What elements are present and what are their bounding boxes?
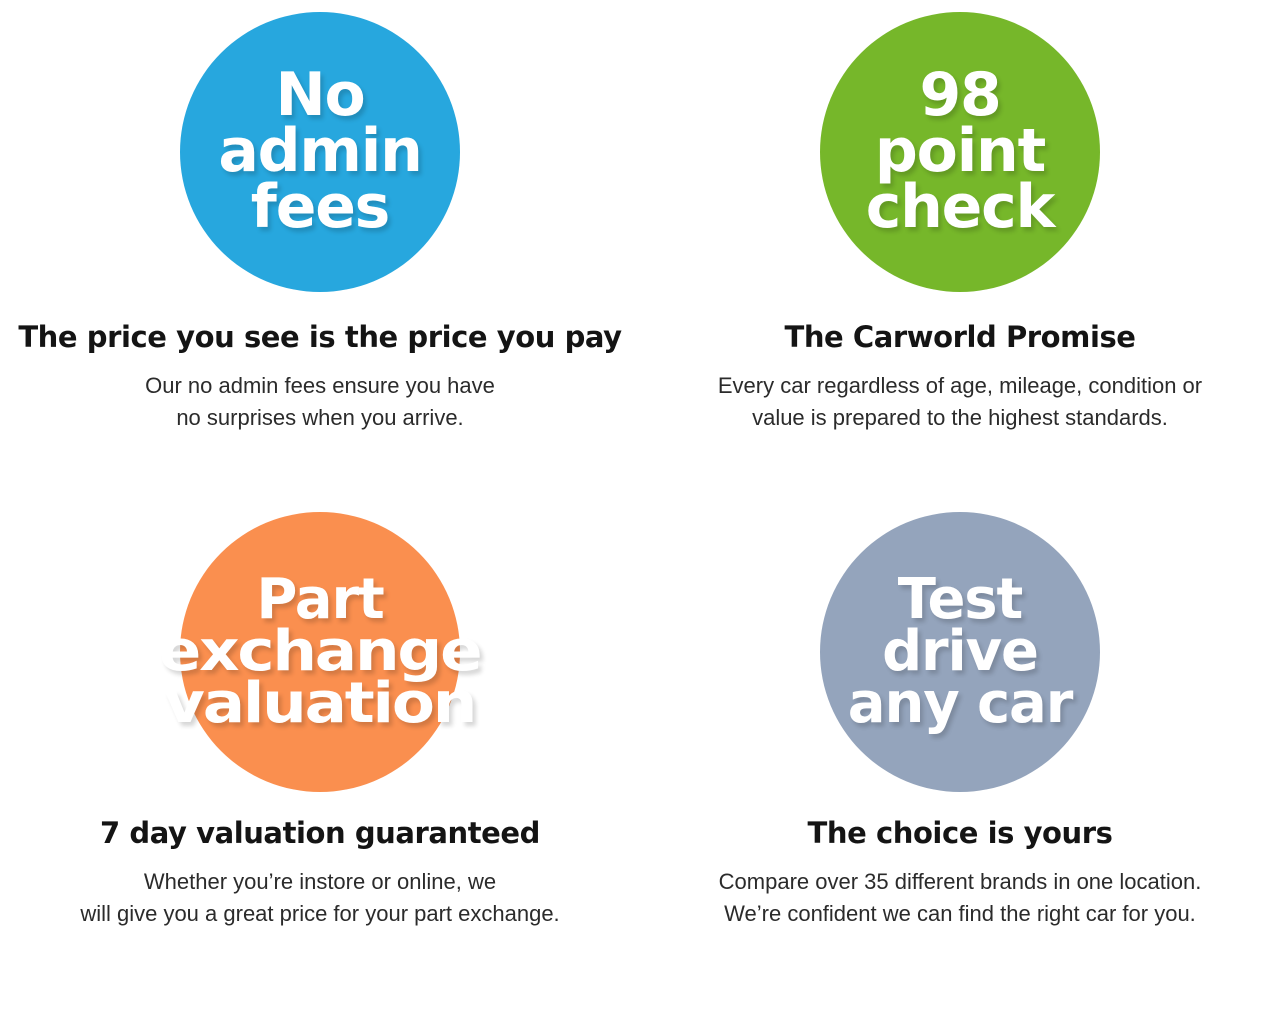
usp-card-test-drive-any-car: Test drive any car The choice is yours C… xyxy=(640,512,1280,1012)
badge-98-point-check: 98 point check xyxy=(820,12,1100,292)
badge-test-drive-any-car: Test drive any car xyxy=(820,512,1100,792)
usp-grid: No admin fees The price you see is the p… xyxy=(0,0,1280,1024)
usp-body-line-1: Every car regardless of age, mileage, co… xyxy=(718,370,1202,402)
usp-body-test-drive-any-car: Compare over 35 different brands in one … xyxy=(719,866,1202,930)
usp-card-no-admin-fees: No admin fees The price you see is the p… xyxy=(0,12,640,512)
badge-part-exchange-valuation: Part exchange valuation xyxy=(180,512,460,792)
usp-heading-part-exchange-valuation: 7 day valuation guaranteed xyxy=(100,818,540,850)
usp-card-98-point-check: 98 point check The Carworld Promise Ever… xyxy=(640,12,1280,512)
usp-card-part-exchange-valuation: Part exchange valuation 7 day valuation … xyxy=(0,512,640,1012)
usp-body-part-exchange-valuation: Whether you’re instore or online, we wil… xyxy=(80,866,559,930)
usp-heading-no-admin-fees: The price you see is the price you pay xyxy=(18,322,621,354)
badge-line-3: fees xyxy=(218,180,421,236)
badge-line-3: valuation xyxy=(159,678,481,730)
usp-body-line-1: Whether you’re instore or online, we xyxy=(80,866,559,898)
usp-body-line-2: no surprises when you arrive. xyxy=(145,402,495,434)
usp-body-98-point-check: Every car regardless of age, mileage, co… xyxy=(718,370,1202,434)
usp-body-line-1: Compare over 35 different brands in one … xyxy=(719,866,1202,898)
usp-body-no-admin-fees: Our no admin fees ensure you have no sur… xyxy=(145,370,495,434)
usp-body-line-2: will give you a great price for your par… xyxy=(80,898,559,930)
badge-line-3: check xyxy=(866,180,1054,236)
badge-no-admin-fees: No admin fees xyxy=(180,12,460,292)
badge-text-no-admin-fees: No admin fees xyxy=(218,68,421,235)
badge-text-part-exchange-valuation: Part exchange valuation xyxy=(176,574,463,730)
usp-heading-test-drive-any-car: The choice is yours xyxy=(808,818,1113,850)
usp-body-line-1: Our no admin fees ensure you have xyxy=(145,370,495,402)
usp-body-line-2: value is prepared to the highest standar… xyxy=(718,402,1202,434)
badge-text-test-drive-any-car: Test drive any car xyxy=(848,574,1072,730)
badge-text-98-point-check: 98 point check xyxy=(866,68,1054,235)
usp-heading-98-point-check: The Carworld Promise xyxy=(784,322,1135,354)
usp-body-line-2: We’re confident we can find the right ca… xyxy=(719,898,1202,930)
badge-line-3: any car xyxy=(848,678,1072,730)
